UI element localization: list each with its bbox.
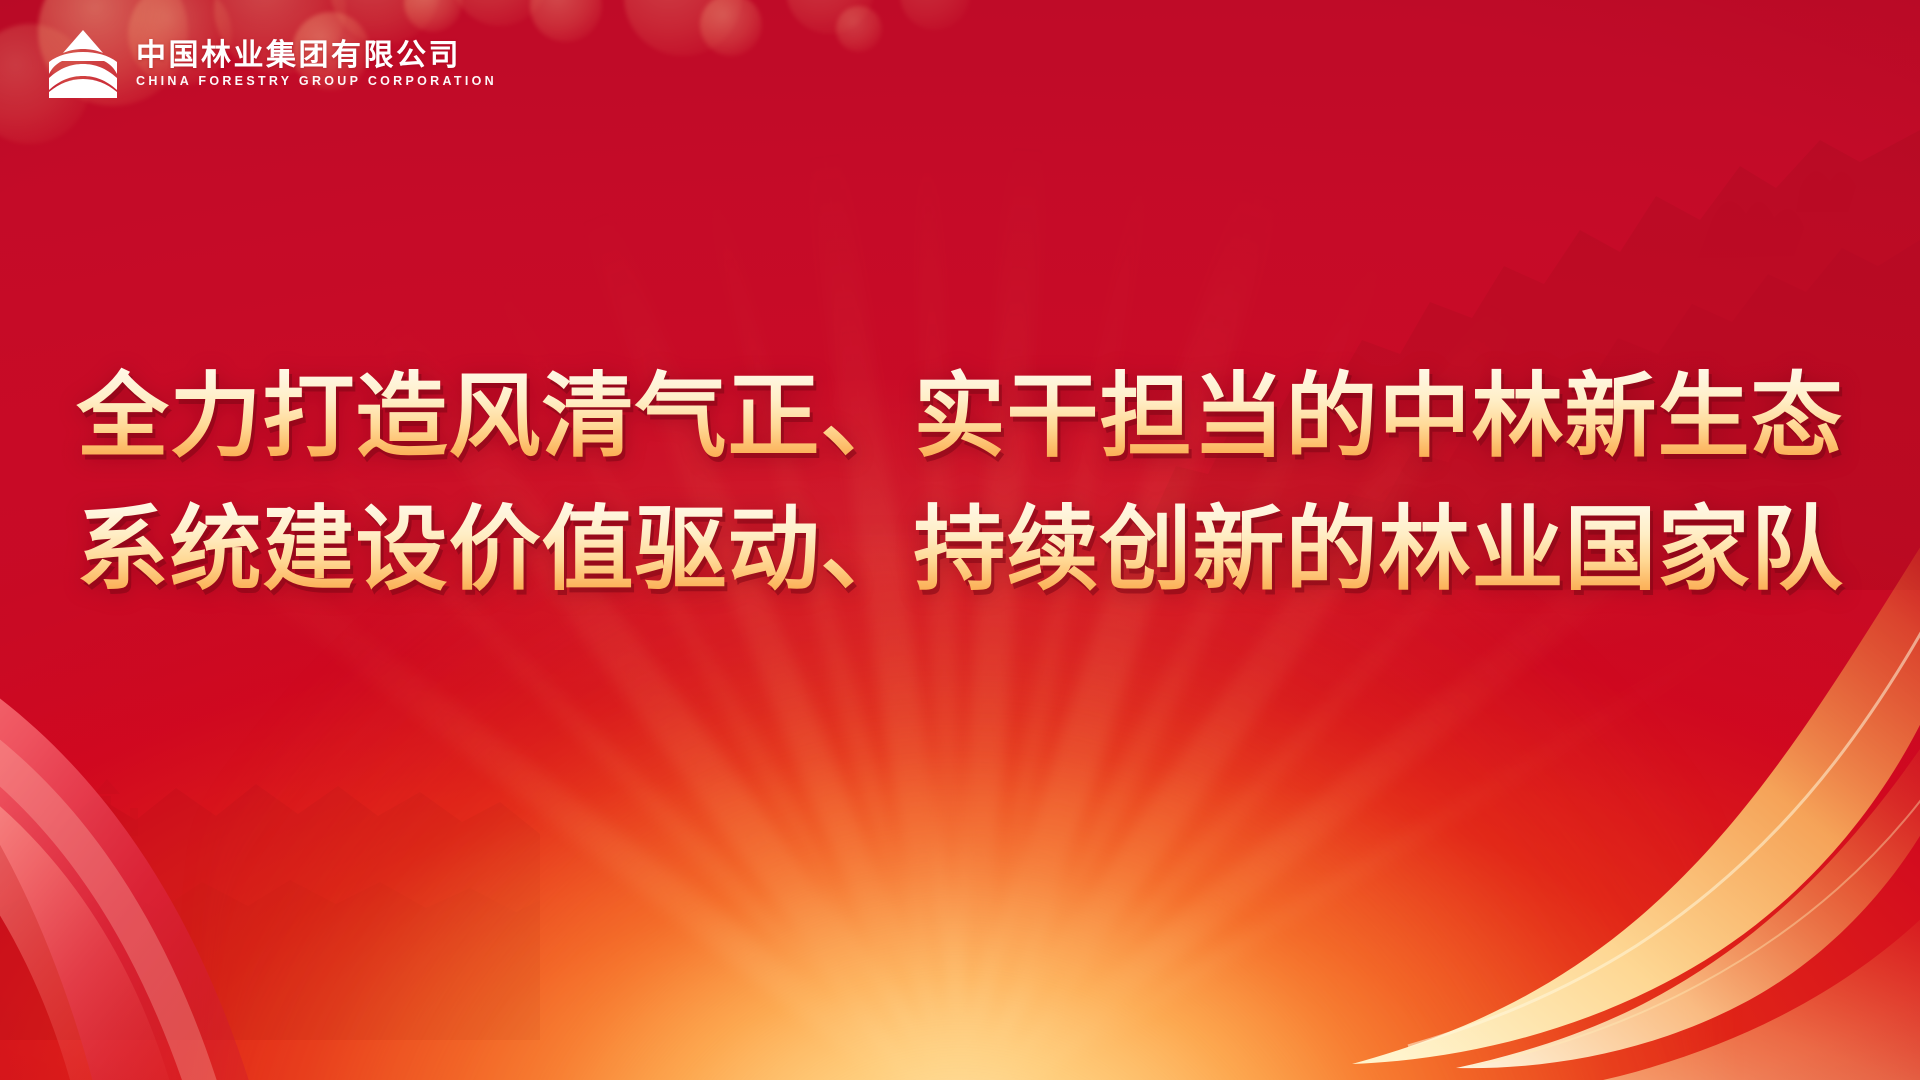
- poster-canvas: 中国林业集团有限公司 CHINA FORESTRY GROUP CORPORAT…: [0, 0, 1920, 1080]
- brand-logo: 中国林业集团有限公司 CHINA FORESTRY GROUP CORPORAT…: [46, 28, 497, 100]
- brand-name-cn: 中国林业集团有限公司: [136, 41, 497, 71]
- brand-lockup-text: 中国林业集团有限公司 CHINA FORESTRY GROUP CORPORAT…: [136, 41, 497, 88]
- headline-line-1: 全力打造风清气正、实干担当的中林新生态: [40, 350, 1880, 483]
- brand-name-en: CHINA FORESTRY GROUP CORPORATION: [136, 75, 497, 88]
- headline-block: 全力打造风清气正、实干担当的中林新生态 系统建设价值驱动、持续创新的林业国家队: [0, 350, 1920, 617]
- headline-line-2: 系统建设价值驱动、持续创新的林业国家队: [40, 483, 1880, 616]
- forest-mountain-logo-icon: [46, 28, 120, 100]
